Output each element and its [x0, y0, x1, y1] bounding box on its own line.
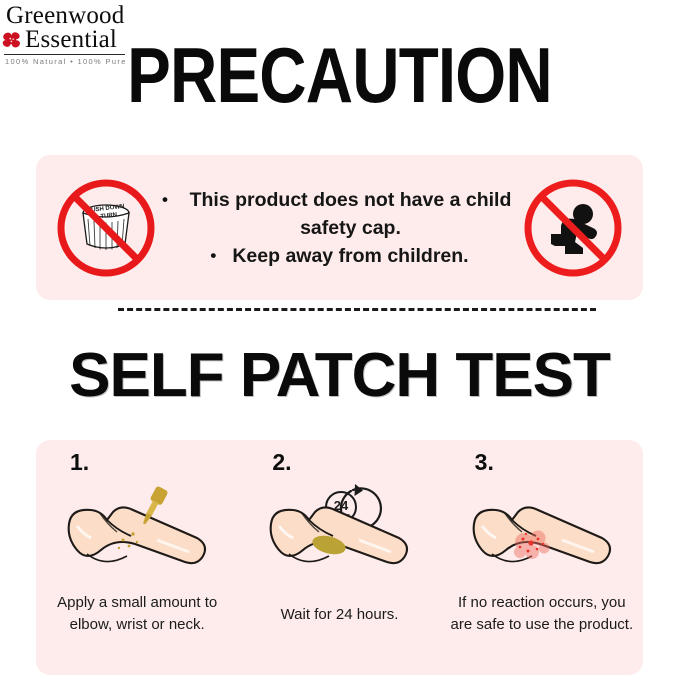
patch-test-step-2: 2. 24 HOURS	[238, 440, 440, 675]
elbow-with-oil-patch-icon: 24 HOURS	[259, 476, 419, 586]
step-2-caption: Wait for 24 hours.	[275, 604, 405, 626]
no-children-icon	[521, 176, 625, 280]
section-divider	[118, 308, 596, 311]
precaution-heading: PRECAUTION	[54, 36, 624, 114]
elbow-with-rash-icon	[462, 476, 622, 586]
patch-test-step-1: 1.	[36, 440, 238, 675]
brand-name-line1: Greenwood	[2, 4, 126, 28]
elbow-with-dropper-icon	[57, 476, 217, 586]
step-2-number: 2.	[272, 450, 291, 474]
step-3-number: 3.	[475, 450, 494, 474]
step-1-number: 1.	[70, 450, 89, 474]
precaution-bullet-1-text: This product does not have a child safet…	[184, 186, 517, 242]
precaution-panel: PUSH DOWN & TURN • This product does not…	[36, 155, 643, 300]
step-3-caption: If no reaction occurs, you are safe to u…	[441, 592, 643, 636]
precaution-bullet-list: • This product does not have a child saf…	[158, 186, 521, 270]
precaution-bullet-2-text: Keep away from children.	[232, 242, 468, 270]
bullet-marker: •	[210, 242, 216, 270]
patch-test-heading: SELF PATCH TEST	[0, 345, 679, 407]
patch-test-steps-panel: 1.	[36, 440, 643, 675]
precaution-infographic: Greenwood	[0, 0, 679, 679]
bullet-marker: •	[162, 186, 168, 214]
precaution-bullet-2: • Keep away from children.	[162, 242, 517, 270]
precaution-bullet-1: • This product does not have a child saf…	[162, 186, 517, 242]
no-child-safety-cap-icon: PUSH DOWN & TURN	[54, 176, 158, 280]
patch-test-step-3: 3.	[441, 440, 643, 675]
step-1-caption: Apply a small amount to elbow, wrist or …	[36, 592, 238, 636]
red-flower-icon	[2, 30, 22, 50]
